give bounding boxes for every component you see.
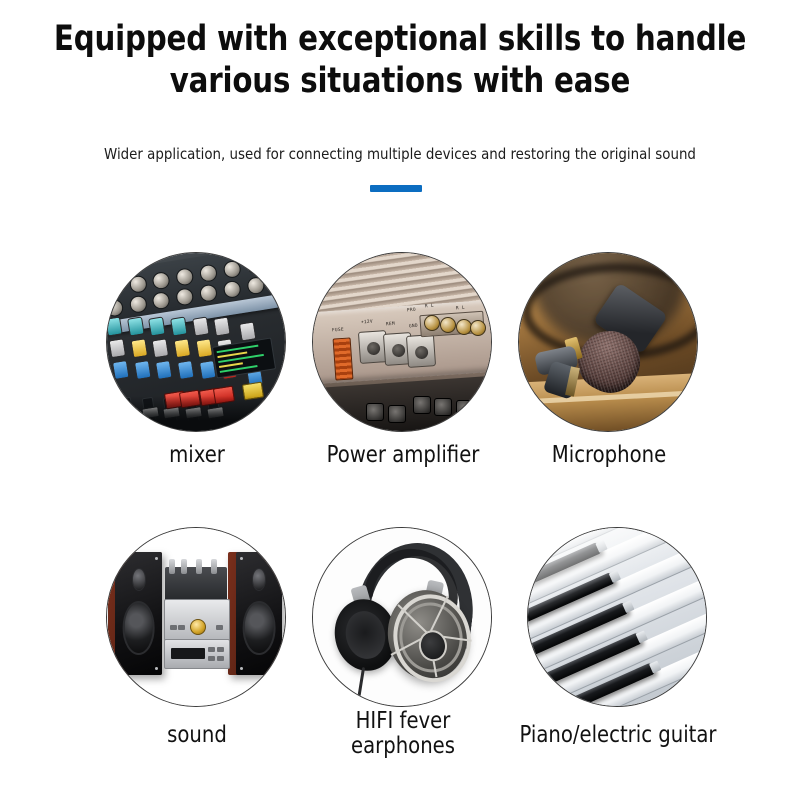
application-image-microphone <box>518 252 698 432</box>
accent-divider <box>370 185 422 192</box>
application-card-mixer[interactable]: mixer <box>106 252 288 432</box>
application-card-microphone[interactable]: Microphone <box>518 252 700 432</box>
application-image-mixer <box>106 252 286 432</box>
application-label-piano-guitar: Piano/electric guitar <box>475 723 762 748</box>
page-subtitle: Wider application, used for connecting m… <box>16 145 784 163</box>
piano-keys-illustration <box>527 527 707 707</box>
application-card-sound[interactable]: sound <box>106 527 288 707</box>
headphones-illustration <box>312 527 492 707</box>
power-amplifier-illustration: FUSE +12V REM GND R L R L PRO <box>312 252 492 432</box>
mixer-illustration <box>106 252 286 432</box>
application-card-power-amplifier[interactable]: FUSE +12V REM GND R L R L PRO <box>312 252 494 432</box>
application-card-piano-guitar[interactable]: Piano/electric guitar <box>527 527 709 707</box>
application-image-sound <box>106 527 286 707</box>
application-image-piano-guitar <box>527 527 707 707</box>
product-feature-page: Equipped with exceptional skills to hand… <box>0 0 800 800</box>
microphone-illustration <box>518 252 698 432</box>
application-label-microphone: Microphone <box>466 443 753 468</box>
application-image-hifi-earphones <box>312 527 492 707</box>
application-card-hifi-earphones[interactable]: HIFI fever earphones <box>312 527 494 707</box>
page-title: Equipped with exceptional skills to hand… <box>28 18 772 102</box>
application-image-power-amplifier: FUSE +12V REM GND R L R L PRO <box>312 252 492 432</box>
sound-system-illustration <box>106 527 286 707</box>
